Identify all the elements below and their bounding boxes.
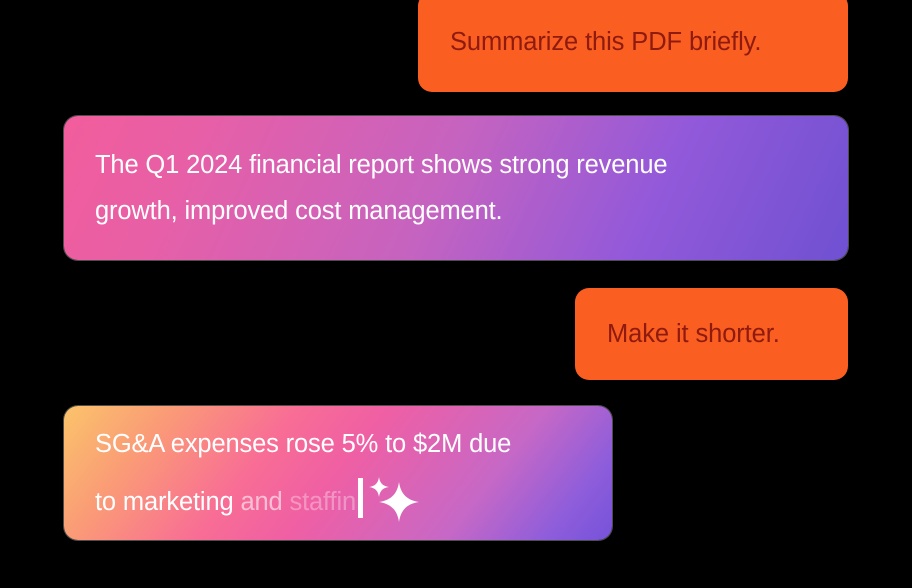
message-text-assistant-2-line-1: SG&A expenses rose 5% to $2M due (95, 421, 581, 467)
streamed-token-settled: to marketing (95, 488, 234, 516)
message-bubble-assistant-1[interactable]: The Q1 2024 financial report shows stron… (64, 116, 848, 260)
message-text-user-1: Summarize this PDF briefly. (450, 25, 816, 59)
streamed-token-newest: staffin (283, 488, 356, 516)
text-caret-icon (358, 478, 363, 518)
message-text-user-2: Make it shorter. (607, 317, 816, 351)
message-bubble-user-2[interactable]: Make it shorter. (575, 288, 848, 380)
streaming-indicator (356, 467, 426, 513)
streamed-token-fading: and (234, 488, 283, 516)
message-text-assistant-1-line-1: The Q1 2024 financial report shows stron… (95, 142, 817, 188)
chat-transcript: Summarize this PDF briefly. The Q1 2024 … (0, 0, 912, 588)
message-bubble-assistant-2-streaming[interactable]: SG&A expenses rose 5% to $2M due to mark… (64, 406, 612, 540)
message-bubble-user-1[interactable]: Summarize this PDF briefly. (418, 0, 848, 92)
sparkle-cluster (364, 476, 426, 522)
message-text-assistant-2-line-2: to marketing and staffin (95, 467, 581, 525)
sparkle-large-icon (378, 481, 420, 523)
message-text-assistant-1-line-2: growth, improved cost management. (95, 188, 817, 234)
